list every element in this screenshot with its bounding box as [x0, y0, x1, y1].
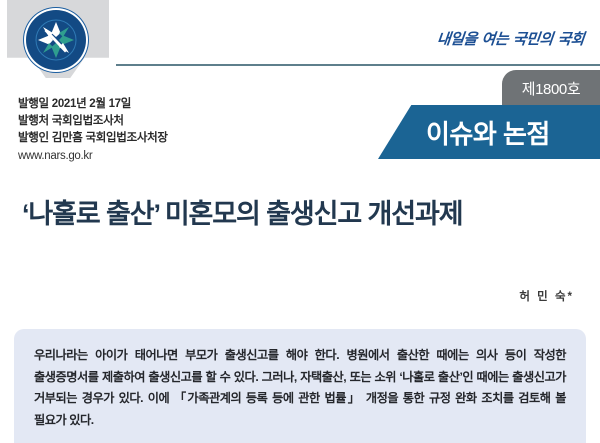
issue-number-tab: 제1800호: [502, 70, 600, 106]
assembly-slogan: 내일을 여는 국민의 국회: [436, 28, 585, 49]
publisher-name: 발행처 국회입법조사처: [18, 113, 168, 130]
nars-emblem-icon: [26, 10, 86, 70]
publication-date: 발행일 2021년 2월 17일: [18, 96, 168, 113]
issue-number-label: 제1800호: [522, 78, 581, 99]
document-page: 내일을 여는 국민의 국회 제1800호 이슈와 논점 발행일 2021년 2월…: [0, 0, 600, 443]
header-divider-rule: [116, 64, 600, 66]
abstract-box: 우리나라는 아이가 태어나면 부모가 출생신고를 해야 한다. 병원에서 출산한…: [14, 329, 586, 443]
abstract-text: 우리나라는 아이가 태어나면 부모가 출생신고를 해야 한다. 병원에서 출산한…: [34, 345, 566, 432]
series-banner: 이슈와 논점: [378, 105, 600, 159]
publisher-website[interactable]: www.nars.go.kr: [18, 148, 168, 165]
series-banner-label: 이슈와 논점: [426, 114, 550, 151]
page-title: ‘나홀로 출산’ 미혼모의 출생신고 개선과제: [22, 196, 492, 232]
publication-info: 발행일 2021년 2월 17일 발행처 국회입법조사처 발행인 김만흠 국회입…: [18, 96, 168, 165]
issuer-name: 발행인 김만흠 국회입법조사처장: [18, 130, 168, 147]
document-header: 내일을 여는 국민의 국회 제1800호 이슈와 논점 발행일 2021년 2월…: [0, 0, 600, 178]
author-byline: 허 민 숙*: [519, 288, 574, 304]
title-block: ‘나홀로 출산’ 미혼모의 출생신고 개선과제: [22, 196, 492, 232]
